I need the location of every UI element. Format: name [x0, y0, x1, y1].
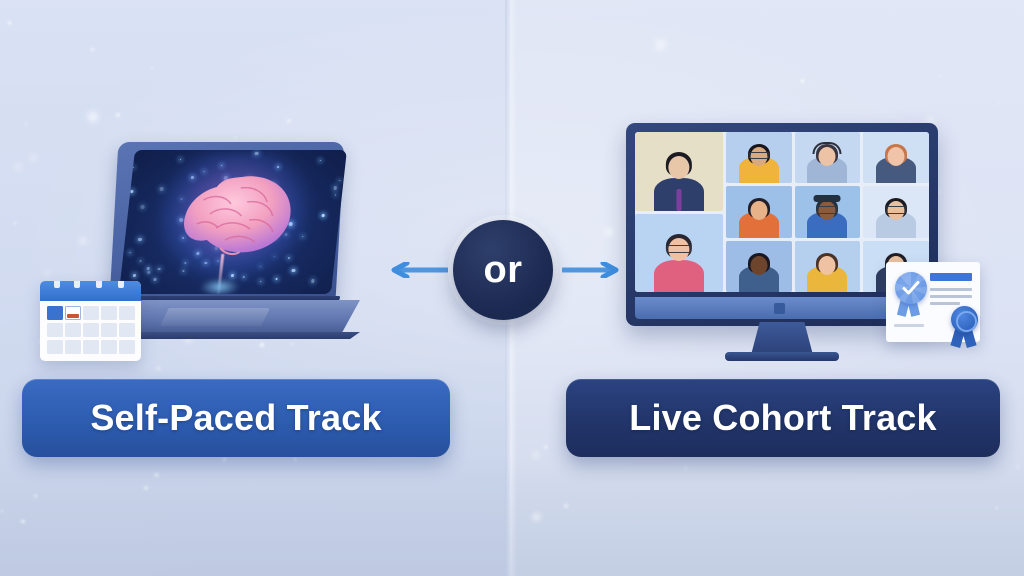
certificate-text-line	[930, 302, 960, 305]
video-tile[interactable]	[726, 132, 792, 183]
self-paced-track-label: Self-Paced Track	[90, 397, 381, 439]
video-tile[interactable]	[635, 132, 723, 211]
live-cohort-track-label: Live Cohort Track	[629, 397, 936, 439]
video-tile[interactable]	[635, 214, 723, 293]
participant-head	[750, 256, 767, 275]
participant-head	[888, 147, 905, 166]
calendar-icon	[40, 281, 141, 361]
laptop-trackpad	[160, 308, 270, 326]
laptop-device	[108, 140, 360, 345]
laptop-foot	[110, 332, 360, 339]
calendar-day-cell	[119, 306, 135, 320]
calendar-day-cell	[101, 306, 117, 320]
monitor-logo	[774, 303, 785, 314]
participant-glasses	[817, 206, 838, 213]
calendar-ring	[118, 281, 124, 288]
scene: or	[0, 0, 1024, 576]
calendar-ring	[74, 281, 80, 288]
or-badge: or	[453, 220, 553, 320]
video-tile[interactable]	[795, 132, 861, 183]
participant-hat	[814, 195, 841, 202]
monitor-stand-neck	[751, 322, 813, 355]
participant-tie	[677, 189, 682, 211]
calendar-day-cell	[65, 306, 81, 320]
certificate-title-bar	[930, 273, 972, 281]
connector: or	[390, 220, 620, 320]
calendar-grid	[47, 306, 135, 354]
calendar-day-cell	[83, 323, 99, 337]
certificate-card	[886, 262, 990, 350]
participant-glasses	[666, 245, 691, 254]
brain-illustration	[174, 172, 302, 264]
or-label: or	[484, 251, 523, 289]
calendar-day-cell	[83, 306, 99, 320]
calendar-day-cell	[83, 340, 99, 354]
certificate-text-line	[930, 295, 972, 298]
laptop-screen	[119, 150, 347, 294]
check-icon	[902, 279, 920, 297]
calendar-ring	[54, 281, 60, 288]
rosette-inner-ring	[956, 311, 977, 332]
participant-glasses	[748, 152, 769, 159]
calendar-day-cell	[47, 323, 63, 337]
video-tile[interactable]	[795, 186, 861, 237]
video-tile[interactable]	[726, 241, 792, 292]
video-tile[interactable]	[726, 186, 792, 237]
video-tile[interactable]	[863, 132, 929, 183]
calendar-day-cell	[119, 340, 135, 354]
certificate-signature-line	[894, 324, 924, 327]
monitor-stand-base	[725, 352, 839, 361]
video-tile[interactable]	[863, 186, 929, 237]
live-cohort-track-button[interactable]: Live Cohort Track	[566, 379, 1000, 457]
certificate-text-line	[930, 288, 972, 291]
video-tile[interactable]	[795, 241, 861, 292]
calendar-day-cell	[47, 340, 63, 354]
participant-body	[654, 260, 704, 293]
self-paced-track-button[interactable]: Self-Paced Track	[22, 379, 450, 457]
calendar-day-cell	[65, 323, 81, 337]
participant-head	[668, 156, 689, 179]
calendar-day-cell	[65, 340, 81, 354]
video-main-column	[635, 132, 723, 292]
arrow-right-icon	[562, 262, 620, 278]
arrow-left-icon	[390, 262, 448, 278]
award-rosette-icon	[946, 306, 982, 346]
calendar-day-cell	[119, 323, 135, 337]
calendar-day-cell	[47, 306, 63, 320]
calendar-ring	[96, 281, 102, 288]
calendar-day-cell	[101, 323, 117, 337]
participant-headset	[813, 142, 842, 154]
video-call-grid	[635, 132, 929, 292]
brain-stem-glow	[199, 278, 241, 294]
participant-head	[750, 201, 767, 220]
participant-head	[819, 256, 836, 275]
laptop-lid	[110, 142, 345, 299]
calendar-day-cell	[101, 340, 117, 354]
participant-glasses	[886, 206, 907, 213]
